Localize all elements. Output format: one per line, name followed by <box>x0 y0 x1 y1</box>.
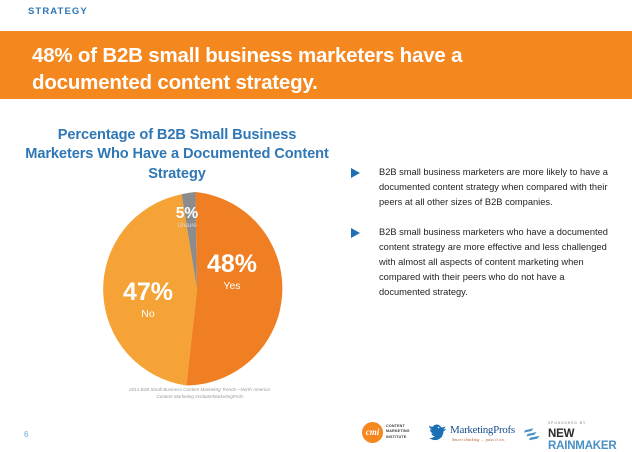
chart-title: Percentage of B2B Small Business Markete… <box>22 126 332 184</box>
content-marketing-institute-logo: cmi CONTENT MARKETING INSTITUTE <box>362 417 424 449</box>
insights-list: B2B small business marketers are more li… <box>347 165 609 315</box>
pie-chart: 48% Yes 47% No 5% Unsure <box>100 192 294 386</box>
marketingprofs-logo: MarketingProfs Smart thinking ... pass i… <box>428 417 520 449</box>
pie-label-unsure-value: 5% <box>176 205 199 222</box>
headline-banner: 48% of B2B small business marketers have… <box>0 31 632 99</box>
cmi-word-line-2: MARKETING <box>386 429 410 434</box>
pie-label-yes-value: 48% <box>207 250 257 278</box>
pie-label-no-name: No <box>141 308 155 320</box>
pie-label-unsure-name: Unsure <box>177 223 197 229</box>
footer-logos: cmi CONTENT MARKETING INSTITUTE Marketin… <box>358 417 624 449</box>
section-label: STRATEGY <box>28 6 88 17</box>
marketingprofs-wordmark: MarketingProfs <box>450 424 515 436</box>
page-number: 6 <box>24 430 28 439</box>
slide: STRATEGY 48% of B2B small business marke… <box>0 0 632 452</box>
list-item: B2B small business marketers who have a … <box>347 225 609 300</box>
new-rainmaker-word-new: NEW <box>548 428 574 440</box>
cmi-circle-icon: cmi <box>362 422 383 443</box>
triangle-bullet-icon <box>351 168 360 178</box>
headline-text: 48% of B2B small business marketers have… <box>32 42 572 96</box>
cmi-wordmark: CONTENT MARKETING INSTITUTE <box>386 424 410 440</box>
source-note-line-2: Content Marketing Institute/MarketingPro… <box>60 393 340 400</box>
list-item-text: B2B small business marketers who have a … <box>379 227 608 297</box>
list-item-text: B2B small business marketers are more li… <box>379 167 608 207</box>
new-rainmaker-wordmark: NEW RAINMAKER <box>548 428 624 452</box>
bird-icon <box>428 423 448 441</box>
source-note-line-1: 2014 B2B Small Business Content Marketin… <box>60 386 340 393</box>
marketingprofs-tagline: Smart thinking ... pass it on. <box>452 437 505 442</box>
sponsored-by-label: SPONSORED BY <box>548 421 586 425</box>
new-rainmaker-logo: SPONSORED BY NEW RAINMAKER <box>524 417 624 449</box>
pie-label-no-value: 47% <box>123 278 173 306</box>
new-rainmaker-word-rainmaker: RAINMAKER <box>548 440 616 452</box>
rain-waves-icon <box>524 427 544 441</box>
cmi-word-line-3: INSTITUTE <box>386 435 410 440</box>
pie-chart-svg: 48% Yes 47% No 5% Unsure <box>100 192 294 386</box>
pie-label-yes-name: Yes <box>223 280 240 292</box>
source-note: 2014 B2B Small Business Content Marketin… <box>60 386 340 400</box>
triangle-bullet-icon <box>351 228 360 238</box>
list-item: B2B small business marketers are more li… <box>347 165 609 210</box>
